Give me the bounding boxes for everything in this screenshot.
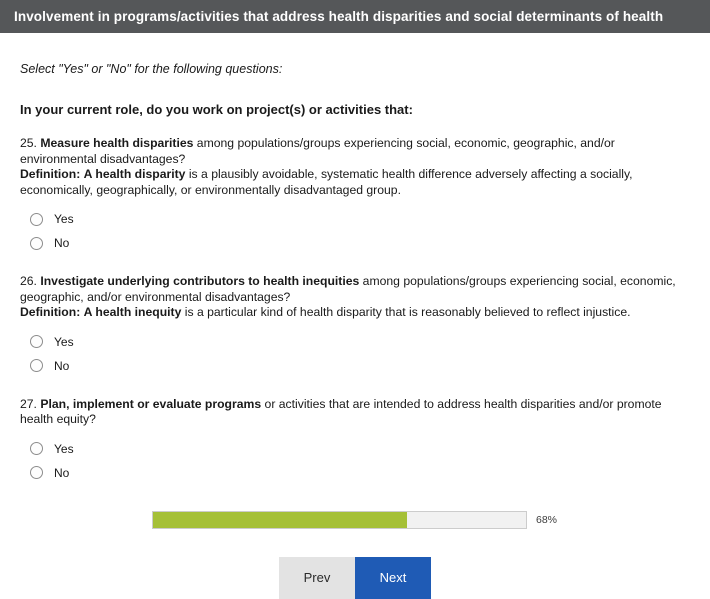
radio-icon[interactable] [30,237,43,250]
option-label: No [54,236,69,250]
next-button[interactable]: Next [355,557,431,599]
question-27-option-no[interactable]: No [20,461,690,485]
option-label: No [54,466,69,480]
progress-bar-track [152,511,527,529]
question-26-definition-label: Definition: [20,305,80,319]
question-26-stem-bold: Investigate underlying contributors to h… [40,274,359,288]
option-label: Yes [54,442,74,456]
question-27-option-yes[interactable]: Yes [20,437,690,461]
question-25-stem-bold: Measure health disparities [40,136,193,150]
question-26-definition-rest: is a particular kind of health disparity… [181,305,630,319]
radio-icon[interactable] [30,359,43,372]
question-26-stem: 26. Investigate underlying contributors … [20,274,690,305]
progress-percent-label: 68% [536,514,557,526]
question-26-definition-bold: A health inequity [84,305,182,319]
radio-icon[interactable] [30,466,43,479]
question-25-definition: Definition: A health disparity is a plau… [20,167,690,198]
question-25-definition-bold: A health disparity [84,167,186,181]
question-26-option-yes[interactable]: Yes [20,330,690,354]
progress-bar-fill [153,512,407,528]
question-25-definition-label: Definition: [20,167,80,181]
radio-icon[interactable] [30,335,43,348]
question-26-option-no[interactable]: No [20,354,690,378]
question-block-26: 26. Investigate underlying contributors … [20,274,690,378]
option-label: No [54,359,69,373]
navigation-buttons: Prev Next [20,557,690,599]
survey-content: Select "Yes" or "No" for the following q… [0,62,710,599]
progress-section: 68% [20,511,690,529]
option-label: Yes [54,212,74,226]
page-title: Involvement in programs/activities that … [14,9,663,24]
question-block-25: 25. Measure health disparities among pop… [20,136,690,255]
role-prompt-text: In your current role, do you work on pro… [20,102,690,117]
radio-icon[interactable] [30,213,43,226]
question-25-options: Yes No [20,207,690,255]
instruction-text: Select "Yes" or "No" for the following q… [20,62,690,76]
question-27-options: Yes No [20,437,690,485]
question-25-option-no[interactable]: No [20,231,690,255]
radio-icon[interactable] [30,442,43,455]
question-26-definition: Definition: A health inequity is a parti… [20,305,690,321]
option-label: Yes [54,335,74,349]
question-26-number: 26. [20,274,37,288]
question-25-number: 25. [20,136,37,150]
prev-button[interactable]: Prev [279,557,355,599]
page-header: Involvement in programs/activities that … [0,0,710,33]
question-block-27: 27. Plan, implement or evaluate programs… [20,397,690,485]
question-25-option-yes[interactable]: Yes [20,207,690,231]
question-27-stem-bold: Plan, implement or evaluate programs [40,397,261,411]
question-26-options: Yes No [20,330,690,378]
question-27-stem: 27. Plan, implement or evaluate programs… [20,397,690,428]
question-25-stem: 25. Measure health disparities among pop… [20,136,690,167]
question-27-number: 27. [20,397,37,411]
